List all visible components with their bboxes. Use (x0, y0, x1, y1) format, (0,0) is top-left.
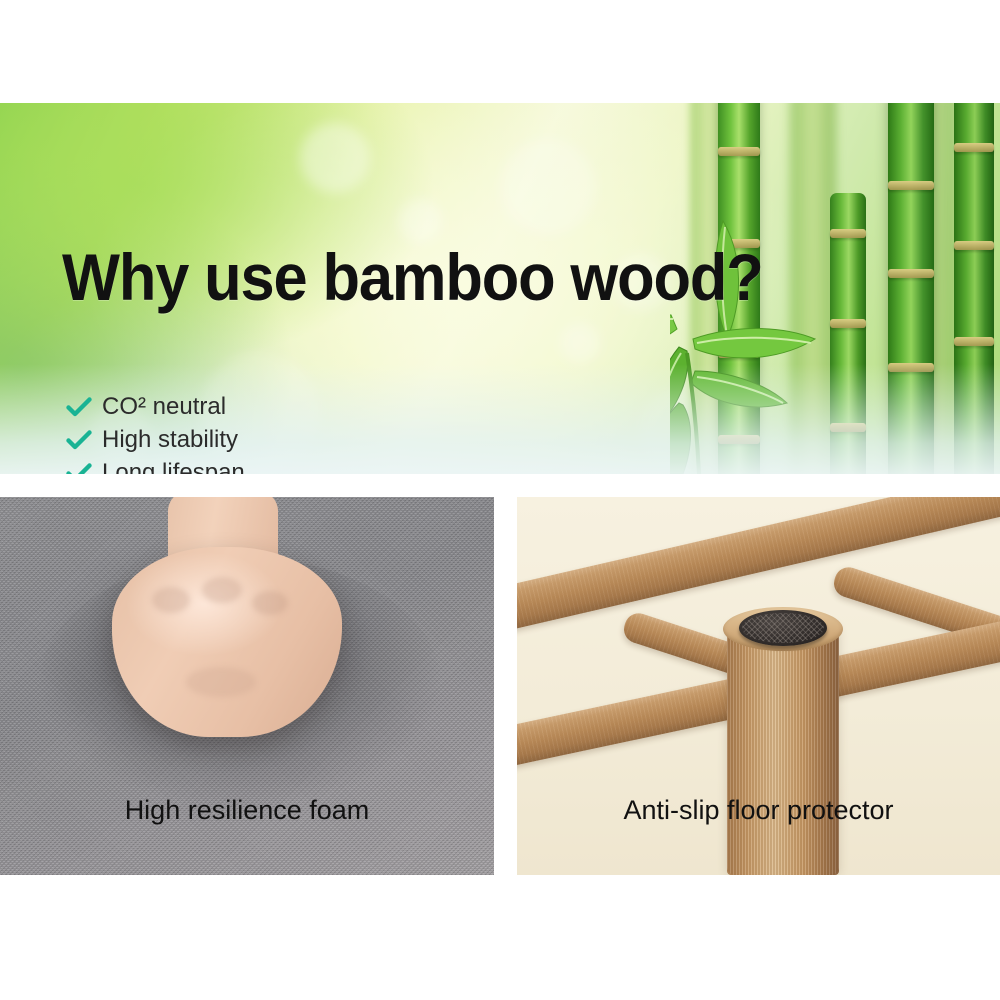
bokeh-light-1 (300, 123, 370, 193)
product-feature-graphic: Why use bamboo wood? CO² neutral High st… (0, 0, 1000, 1000)
fist-pressing-foam (112, 497, 342, 753)
knuckle-dimple (152, 587, 190, 613)
benefit-item: CO² neutral (66, 390, 586, 423)
check-icon (66, 463, 92, 475)
bamboo-benefits-banner: Why use bamboo wood? CO² neutral High st… (0, 103, 1000, 474)
knuckles (112, 547, 342, 737)
panel-caption: High resilience foam (0, 795, 494, 826)
anti-slip-pad-texture (742, 613, 824, 643)
benefit-item: High stability (66, 423, 586, 456)
panel-anti-slip-floor-protector: Anti-slip floor protector (517, 497, 1000, 875)
bokeh-light-3 (500, 139, 596, 235)
bamboo-stalk-front-4 (954, 103, 994, 474)
bamboo-leg (727, 625, 839, 875)
knuckle-dimple (186, 667, 256, 697)
check-icon (66, 430, 92, 450)
knuckle-dimple (202, 577, 242, 603)
page-title: Why use bamboo wood? (62, 239, 763, 315)
panel-high-resilience-foam: High resilience foam (0, 497, 494, 875)
bokeh-light-8 (560, 323, 600, 363)
benefit-label: CO² neutral (102, 395, 226, 419)
benefit-label: Long lifespan (102, 461, 245, 475)
panel-caption: Anti-slip floor protector (517, 795, 1000, 826)
bokeh-light-2 (398, 199, 442, 243)
check-icon (66, 397, 92, 417)
knuckle-dimple (252, 591, 288, 615)
bamboo-node (954, 337, 994, 346)
bamboo-node (954, 241, 994, 250)
benefits-list: CO² neutral High stability Long lifespan… (66, 390, 586, 474)
benefit-item: Long lifespan (66, 456, 586, 474)
benefit-label: High stability (102, 428, 238, 452)
bamboo-node (954, 143, 994, 152)
anti-slip-pad (739, 610, 827, 646)
feature-panels-row: High resilience foam Anti-slip floor pro… (0, 497, 1000, 875)
